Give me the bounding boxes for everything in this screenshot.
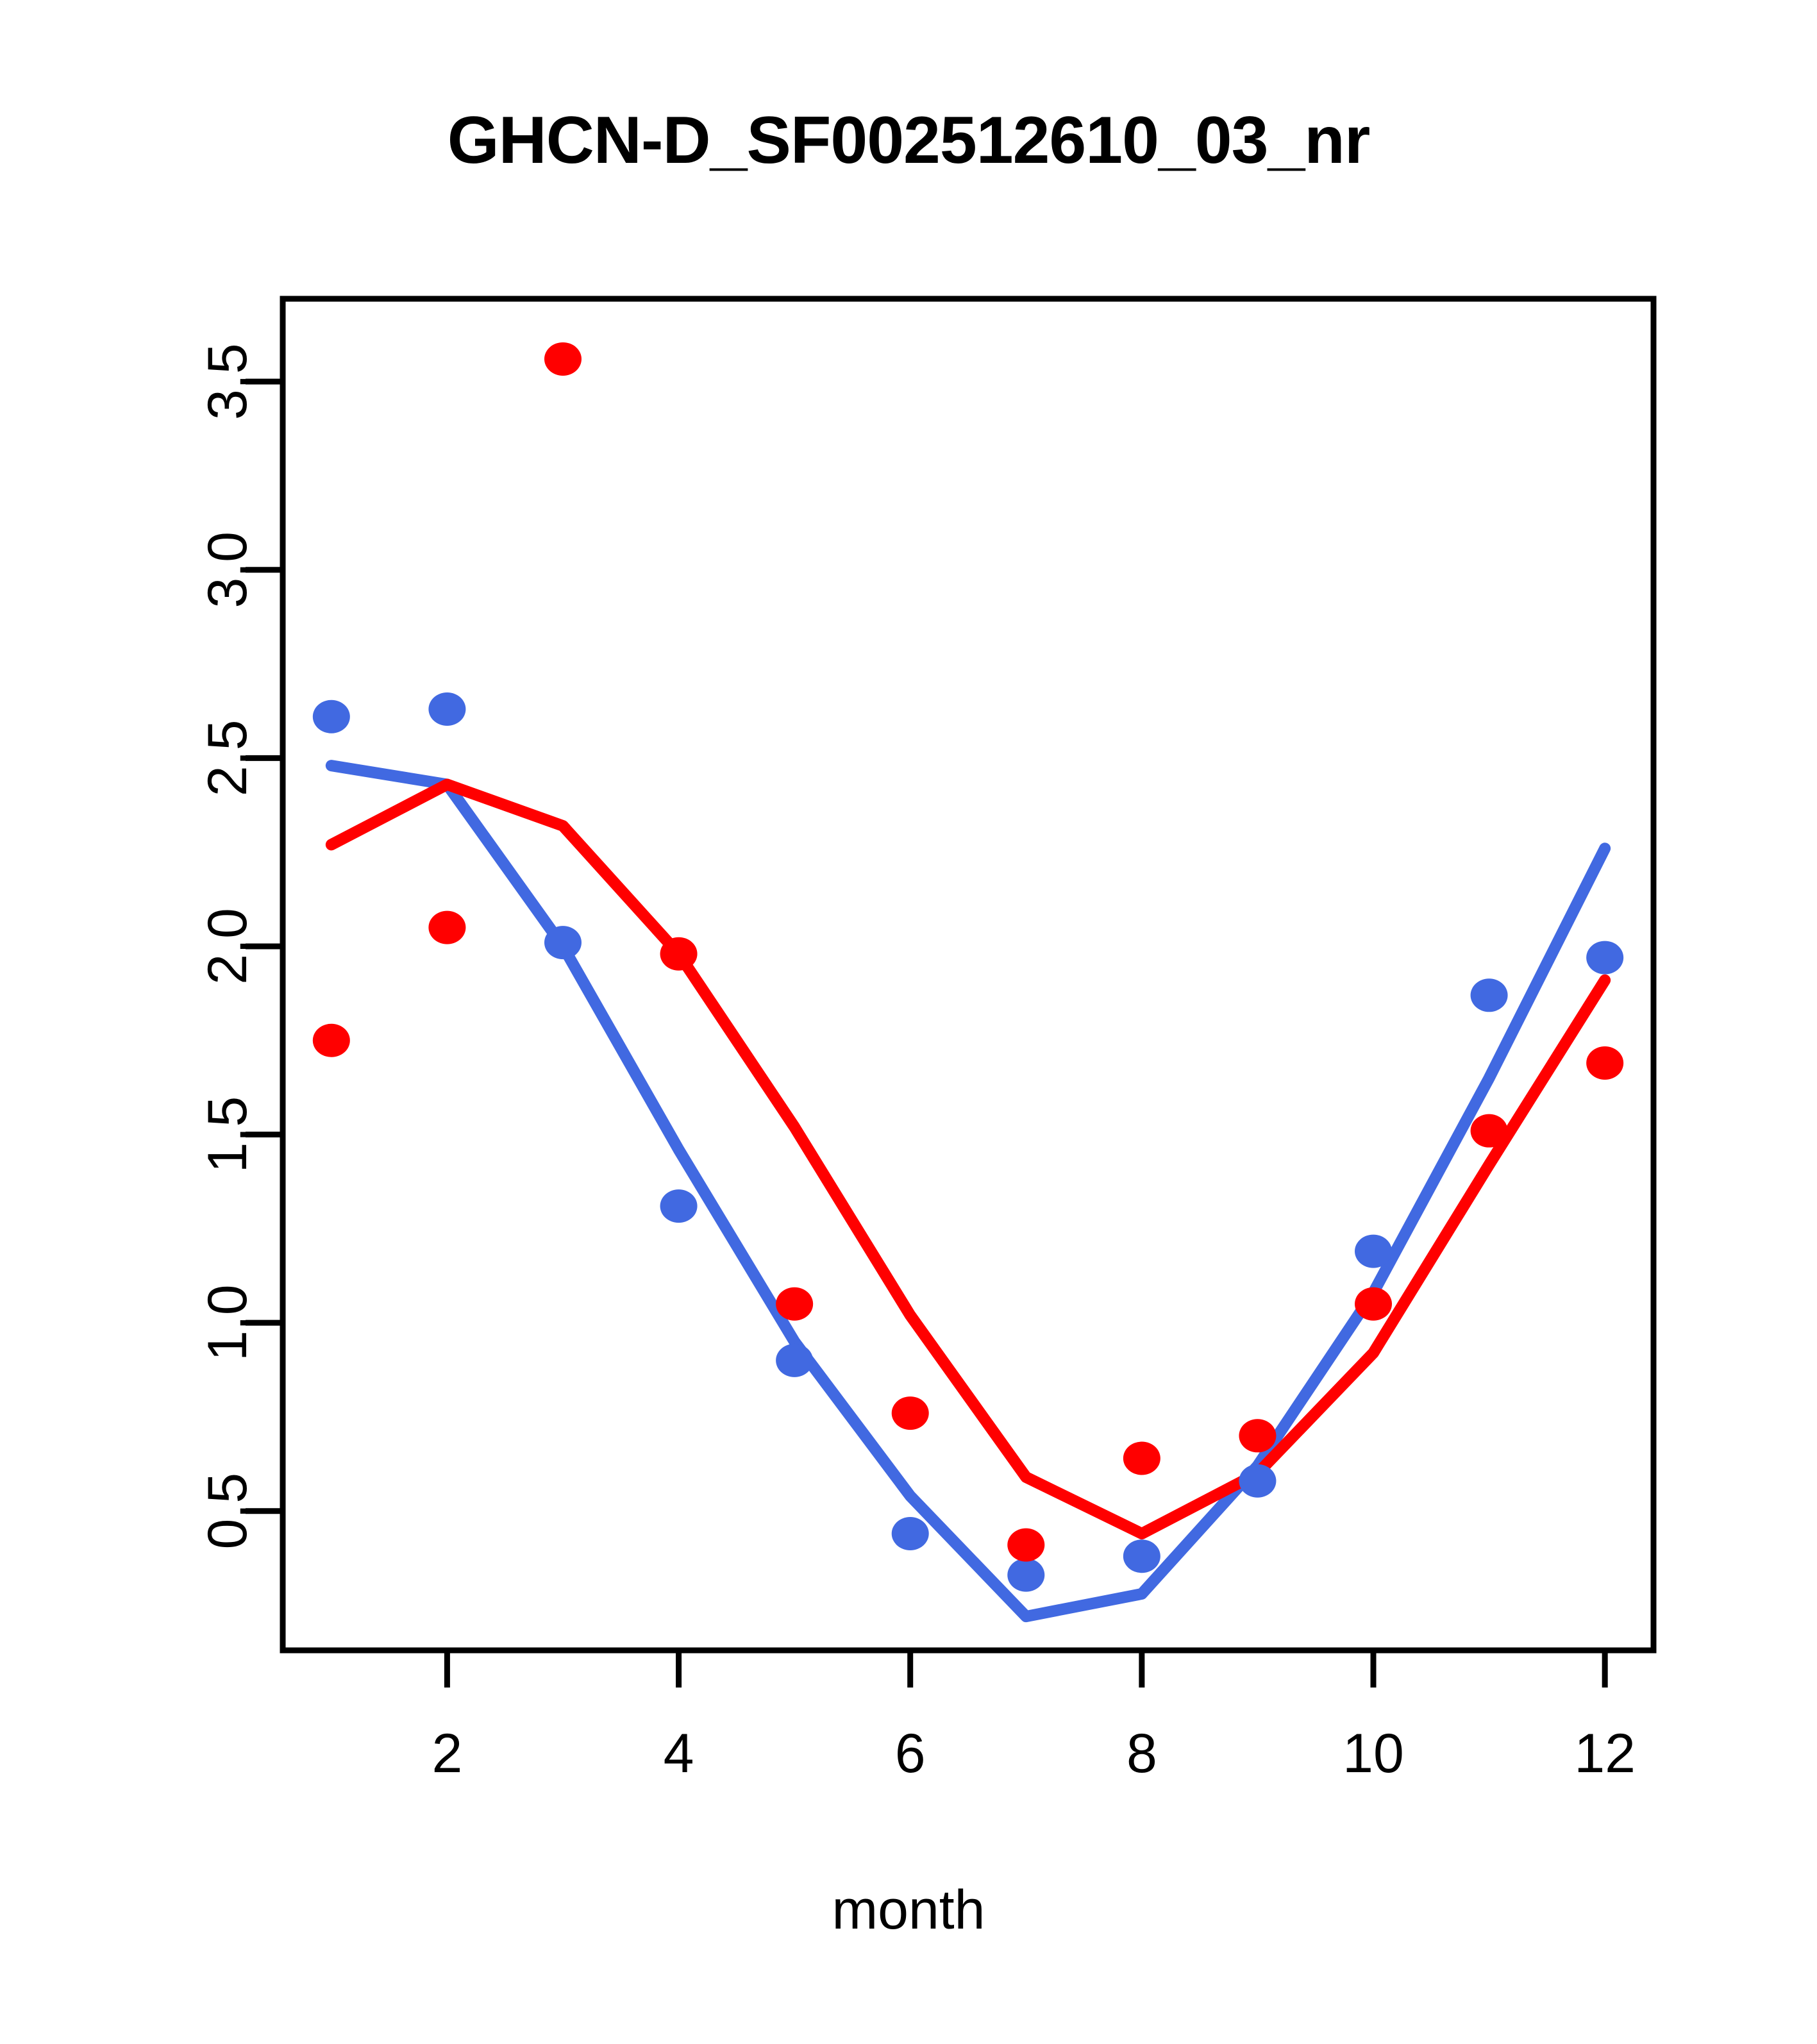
x-axis-title: month: [0, 1879, 1817, 1942]
data-point: [544, 342, 582, 376]
data-point: [892, 1517, 929, 1550]
x-tick-label: 12: [1574, 1723, 1636, 1784]
y-tick-label: 2.5: [197, 720, 258, 797]
data-point: [1586, 941, 1623, 975]
data-point: [1239, 1464, 1276, 1498]
data-point: [544, 926, 582, 959]
data-point: [1239, 1419, 1276, 1452]
data-point: [660, 937, 698, 971]
data-point: [1007, 1559, 1044, 1592]
x-tick-label: 2: [431, 1723, 462, 1784]
y-tick-label: 1.0: [197, 1284, 258, 1361]
y-tick-label: 1.5: [197, 1096, 258, 1173]
data-point: [1007, 1529, 1044, 1562]
data-point: [776, 1287, 813, 1321]
data-point: [1471, 978, 1508, 1012]
data-point: [892, 1396, 929, 1430]
series-points-red-points: [313, 342, 1623, 1562]
data-point: [428, 911, 465, 944]
x-tick-label: 6: [895, 1723, 926, 1784]
data-point: [1123, 1442, 1160, 1475]
data-point: [313, 1024, 350, 1057]
plot-frame: [283, 299, 1654, 1650]
series-line-blue-line: [331, 766, 1605, 1616]
data-point: [428, 692, 465, 726]
data-point: [1471, 1114, 1508, 1148]
data-point: [1123, 1539, 1160, 1573]
x-axis: 24681012: [431, 1650, 1636, 1784]
y-axis: 0.51.01.52.02.53.03.5: [197, 343, 283, 1549]
x-tick-label: 10: [1343, 1723, 1404, 1784]
data-point: [1355, 1287, 1392, 1321]
y-tick-label: 2.0: [197, 908, 258, 985]
y-tick-label: 3.0: [197, 532, 258, 608]
y-tick-label: 0.5: [197, 1473, 258, 1550]
series-points-blue-points: [313, 692, 1623, 1592]
x-tick-label: 8: [1126, 1723, 1157, 1784]
chart-lines: [331, 766, 1605, 1616]
data-point: [313, 700, 350, 733]
data-point: [1355, 1235, 1392, 1268]
y-tick-label: 3.5: [197, 343, 258, 420]
data-point: [660, 1189, 698, 1223]
x-tick-label: 4: [664, 1723, 694, 1784]
data-point: [776, 1344, 813, 1377]
plot-root: GHCN-D_SF002512610_03_nr 0.51.01.52.02.5…: [0, 0, 1817, 2044]
chart-canvas: 0.51.01.52.02.53.03.5 24681012: [0, 0, 1817, 2044]
data-point: [1586, 1046, 1623, 1080]
